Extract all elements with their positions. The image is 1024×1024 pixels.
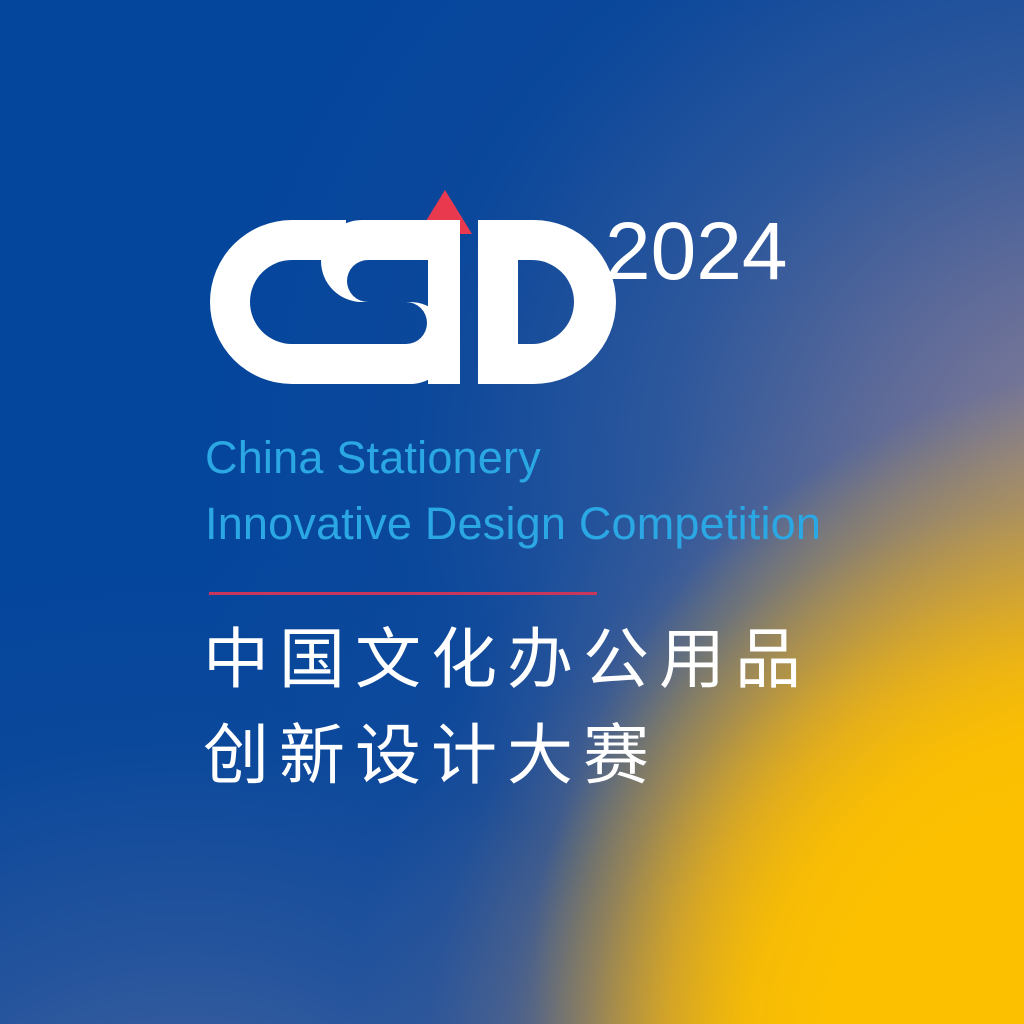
logo-year: 2024 <box>605 206 787 297</box>
csid-logo: 2024 <box>196 176 816 396</box>
chinese-title-line2: 创新设计大赛 <box>203 723 659 789</box>
english-title-line2: Innovative Design Competition <box>205 501 821 546</box>
logo-letter-d <box>478 220 616 384</box>
english-title-line1: China Stationery <box>205 435 541 480</box>
chinese-title-line1: 中国文化办公用品 <box>203 627 811 693</box>
poster-content: 2024 China Stationery Innovative Design … <box>0 0 1024 1024</box>
divider-rule <box>209 592 597 595</box>
csid-logo-svg: 2024 <box>196 176 816 396</box>
poster-canvas: 2024 China Stationery Innovative Design … <box>0 0 1024 1024</box>
logo-letter-i <box>428 220 460 384</box>
